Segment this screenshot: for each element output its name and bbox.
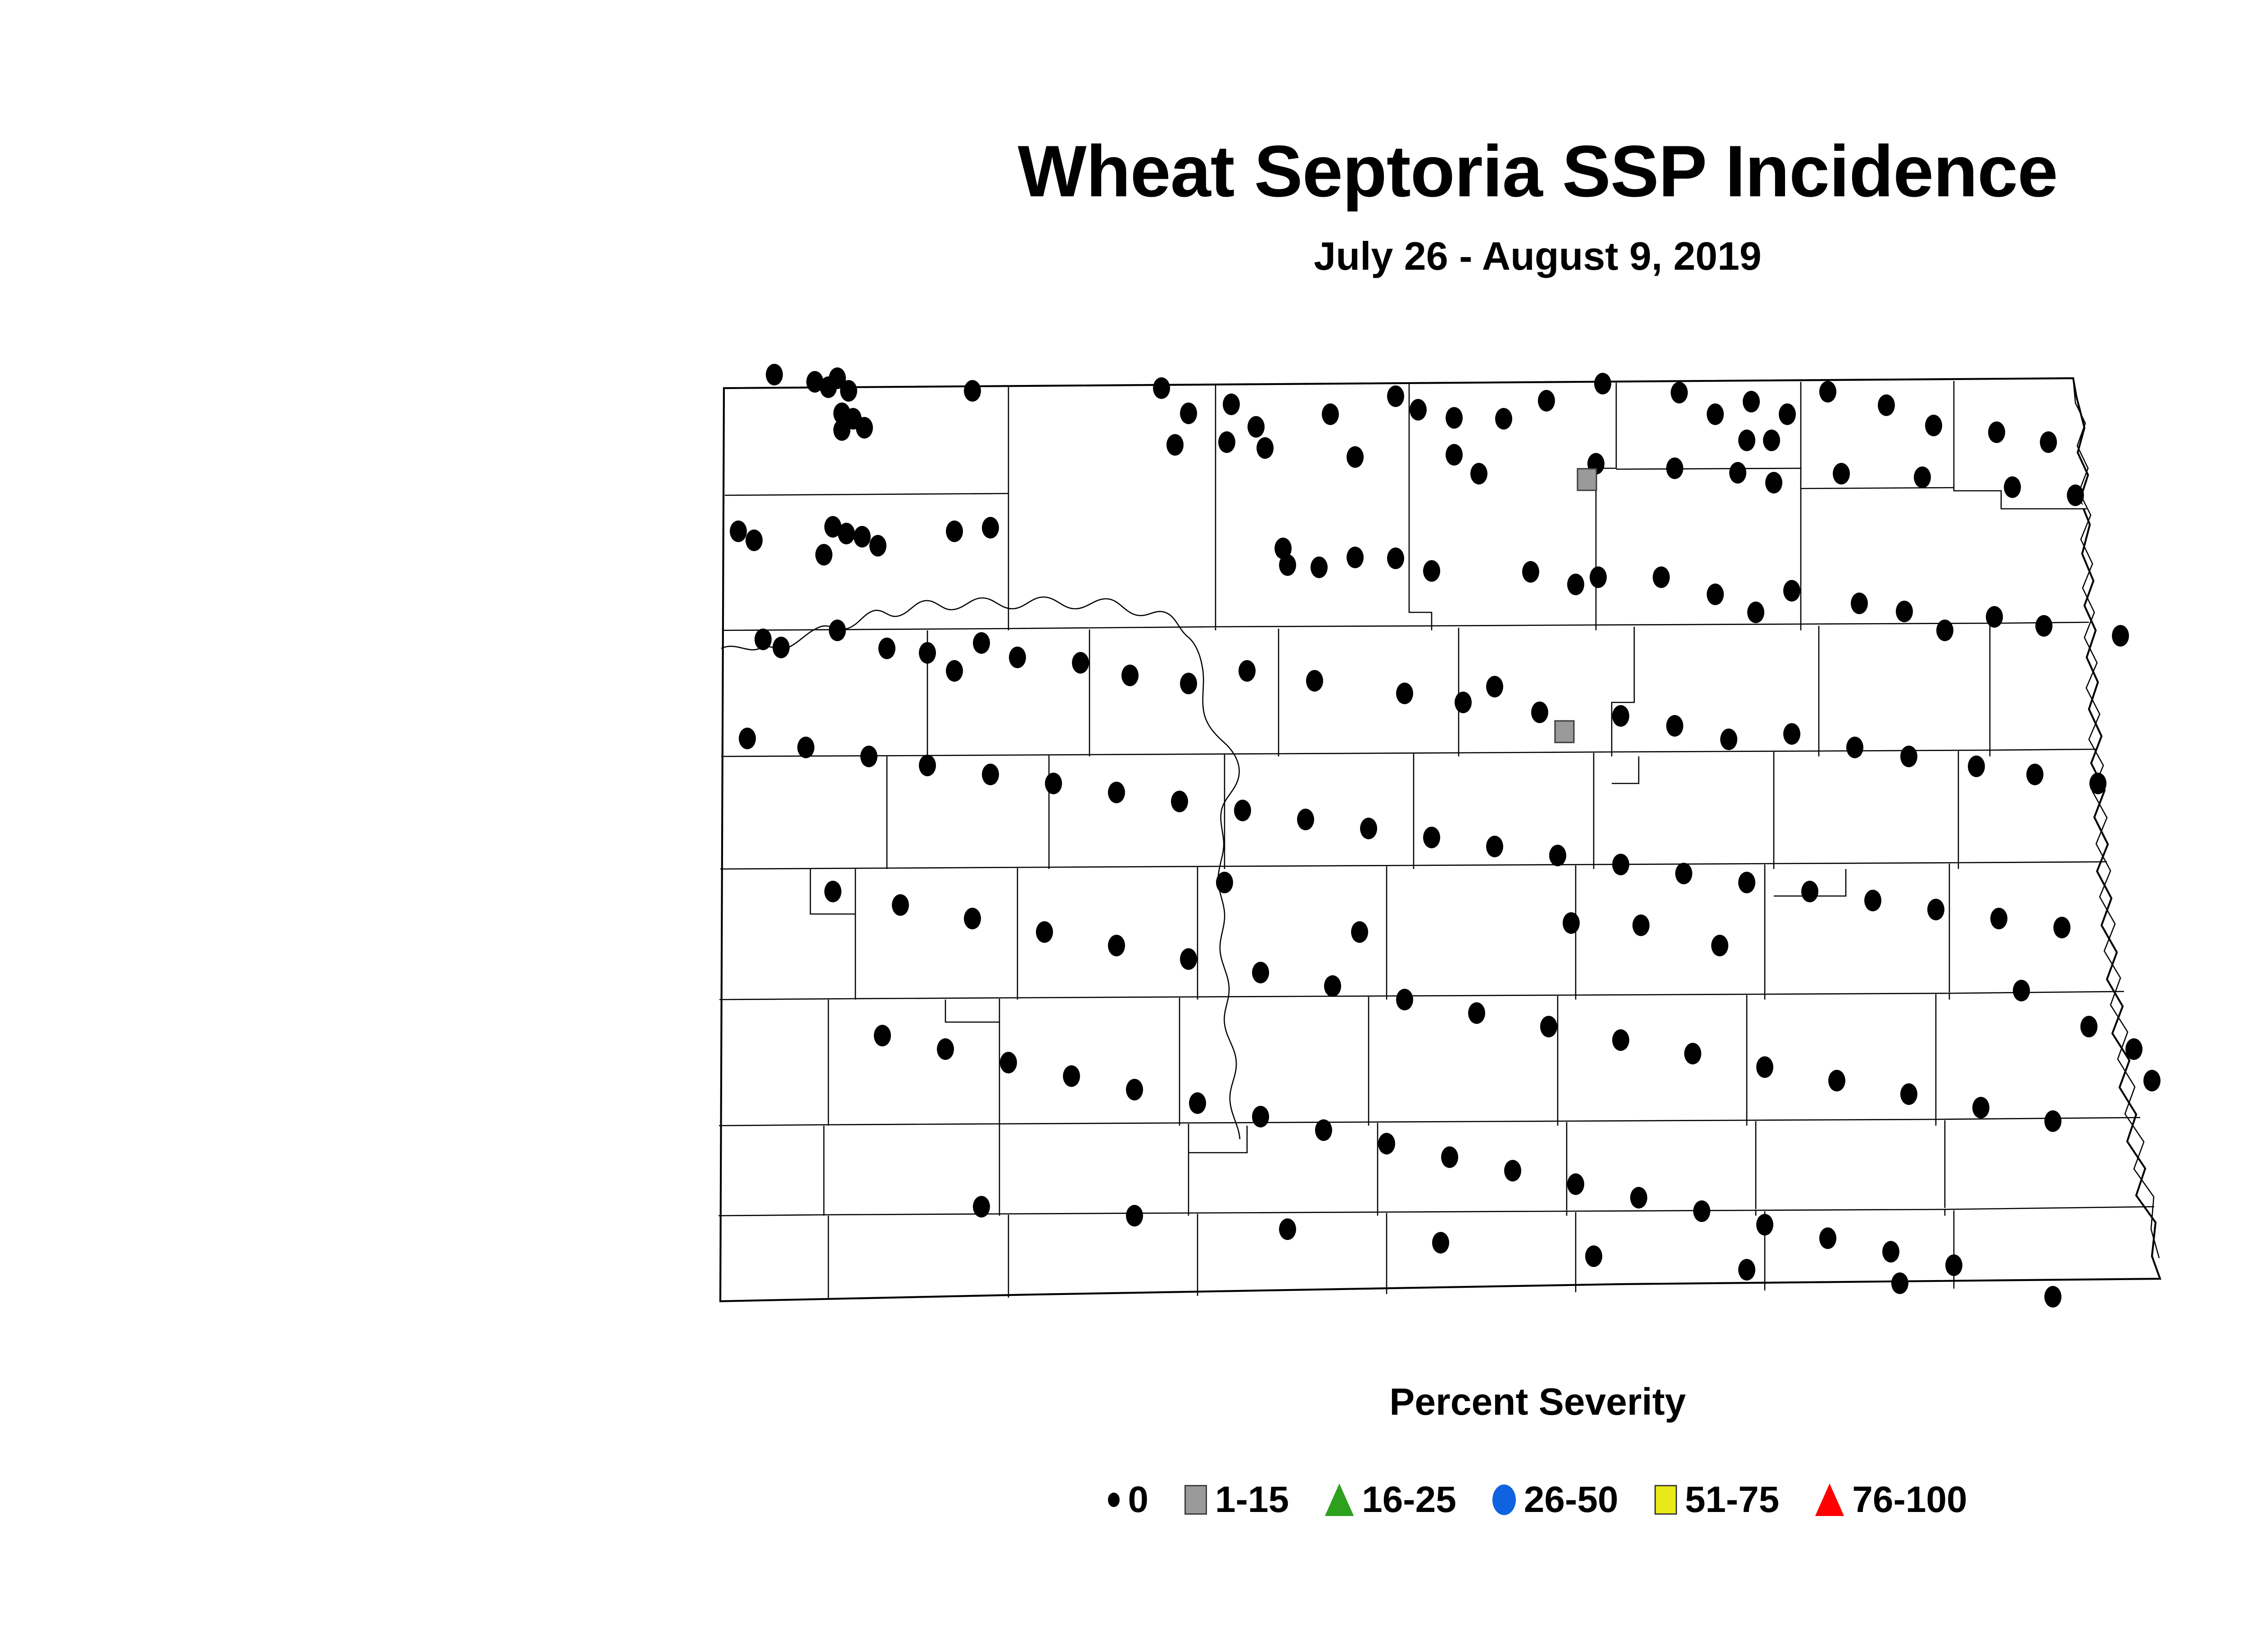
- data-point: [946, 520, 963, 542]
- data-point: [1653, 566, 1670, 588]
- data-point: [854, 526, 871, 548]
- data-point: [1322, 403, 1339, 425]
- data-point: [1189, 1092, 1206, 1114]
- data-point: [1216, 872, 1233, 893]
- data-point: [1846, 737, 1863, 758]
- data-point: [1072, 652, 1089, 674]
- legend-item-label: 76-100: [1852, 1481, 1967, 1518]
- data-point: [746, 530, 763, 551]
- data-point: [1720, 729, 1737, 750]
- data-point: [2035, 615, 2052, 637]
- data-point: [1387, 548, 1404, 569]
- data-point: [824, 881, 841, 902]
- legend-item-16-25[interactable]: 16-25: [1325, 1481, 1456, 1518]
- data-point: [1594, 373, 1611, 394]
- data-point: [1432, 1232, 1449, 1254]
- data-point: [1738, 430, 1755, 451]
- data-point: [1378, 1133, 1395, 1154]
- legend-item-1-15[interactable]: 1-15: [1184, 1481, 1289, 1518]
- data-point: [1180, 948, 1197, 970]
- legend-item-26-50[interactable]: 26-50: [1492, 1481, 1618, 1518]
- data-point: [1864, 890, 1881, 911]
- data-point: [1779, 403, 1796, 425]
- data-point: [1612, 1029, 1629, 1051]
- data-point: [1900, 1083, 1917, 1105]
- data-point: [2053, 917, 2070, 938]
- data-point: [1549, 845, 1566, 866]
- data-point: [1306, 670, 1323, 692]
- north-dakota-county-map: [693, 360, 2251, 1351]
- data-point: [1036, 921, 1053, 943]
- data-point: [815, 544, 832, 566]
- data-point: [1666, 715, 1683, 737]
- legend-item-label: 0: [1128, 1481, 1148, 1518]
- data-point: [1297, 809, 1314, 830]
- data-point: [2013, 980, 2030, 1001]
- data-point: [982, 764, 999, 785]
- data-point: [1234, 800, 1251, 821]
- data-point: [1351, 921, 1368, 943]
- data-point: [1684, 1043, 1701, 1064]
- data-point: [1833, 463, 1850, 484]
- data-point: [1972, 1097, 1989, 1118]
- data-point: [874, 1025, 891, 1046]
- data-point: [1763, 430, 1780, 451]
- data-point: [2004, 476, 2021, 498]
- data-point: [1828, 1070, 1845, 1091]
- data-point: [1153, 377, 1170, 399]
- legend-square-icon: [1654, 1485, 1677, 1515]
- data-point: [856, 417, 873, 439]
- data-point: [1180, 673, 1197, 694]
- red-river-east-border: [2073, 378, 2159, 1258]
- legend: 01-1516-2526-5051-7576-100: [0, 1481, 2251, 1518]
- data-point: [1891, 1272, 1908, 1294]
- data-point: [1252, 962, 1269, 983]
- data-point: [1585, 1245, 1602, 1267]
- data-point: [2112, 625, 2129, 647]
- data-point: [2040, 431, 2057, 453]
- data-point: [1540, 1016, 1557, 1037]
- data-point: [1671, 382, 1688, 403]
- data-point: [1239, 660, 1256, 682]
- page-subtitle: July 26 - August 9, 2019: [0, 208, 2251, 279]
- data-point: [946, 660, 963, 682]
- data-point: [1936, 620, 1953, 641]
- data-point: [1612, 854, 1629, 875]
- data-point: [1248, 416, 1265, 438]
- data-point: [829, 620, 846, 641]
- data-point: [1666, 457, 1683, 479]
- data-point: [755, 629, 772, 650]
- data-point: [1045, 773, 1062, 794]
- data-point: [2044, 1110, 2061, 1132]
- data-point: [1410, 399, 1427, 421]
- data-point: [1396, 683, 1413, 704]
- data-point: [1396, 989, 1413, 1010]
- data-point: [1441, 1146, 1458, 1168]
- data-point: [1711, 935, 1728, 956]
- page-title: Wheat Septoria SSP Incidence: [0, 135, 2251, 208]
- data-point: [964, 380, 981, 402]
- data-point: [2143, 1070, 2161, 1091]
- data-point: [1108, 935, 1125, 956]
- data-point: [878, 638, 895, 659]
- data-point: [1252, 1106, 1269, 1127]
- data-point: [869, 535, 886, 557]
- legend-item-label: 26-50: [1524, 1481, 1618, 1518]
- page-root: Wheat Septoria SSP Incidence July 26 - A…: [0, 0, 2251, 1652]
- data-point: [1387, 385, 1404, 407]
- data-point: [1968, 756, 1985, 777]
- data-point: [766, 364, 783, 385]
- data-markers-layer: [730, 364, 2161, 1308]
- data-point: [1927, 899, 1944, 920]
- data-point: [1009, 647, 1026, 668]
- data-point: [739, 728, 756, 749]
- data-point: [1223, 394, 1240, 415]
- data-point: [2026, 764, 2043, 785]
- data-point: [1126, 1079, 1143, 1100]
- data-point: [1986, 606, 2003, 628]
- data-point: [773, 637, 790, 658]
- data-point: [1783, 723, 1800, 745]
- data-point: [1486, 836, 1503, 857]
- data-point: [1166, 434, 1184, 456]
- data-point: [1801, 881, 1818, 902]
- title-block: Wheat Septoria SSP Incidence July 26 - A…: [0, 135, 2251, 279]
- data-point: [1738, 1259, 1755, 1281]
- data-point: [2067, 484, 2084, 506]
- data-point: [860, 746, 877, 767]
- data-point: [919, 642, 936, 664]
- data-point: [1578, 469, 1596, 490]
- data-point: [1108, 782, 1125, 803]
- data-point: [2044, 1286, 2061, 1308]
- data-point: [1882, 1241, 1899, 1263]
- data-point: [964, 908, 981, 929]
- legend-title: Percent Severity: [0, 1380, 2251, 1424]
- data-point: [1446, 444, 1463, 466]
- legend-triangle-icon: [1325, 1484, 1354, 1516]
- data-point: [1257, 437, 1274, 459]
- data-point: [1180, 403, 1197, 424]
- data-point: [1504, 1160, 1521, 1181]
- data-point: [982, 517, 999, 539]
- legend-item-51-75[interactable]: 51-75: [1654, 1481, 1780, 1518]
- data-point: [1531, 702, 1548, 723]
- data-point: [1747, 602, 1764, 623]
- data-point: [1555, 721, 1574, 742]
- data-point: [1171, 791, 1188, 812]
- data-point: [1347, 547, 1364, 568]
- state-outline: [720, 378, 2160, 1301]
- data-point: [1538, 390, 1555, 412]
- data-point: [973, 1196, 990, 1218]
- data-point: [892, 894, 909, 916]
- data-point: [1729, 462, 1746, 484]
- data-point: [1693, 1200, 1710, 1222]
- data-point: [1486, 676, 1503, 697]
- data-point: [838, 523, 855, 544]
- data-point: [1988, 421, 2005, 443]
- data-point: [1279, 1218, 1296, 1240]
- data-point: [973, 632, 990, 654]
- data-point: [1446, 407, 1463, 429]
- legend-item-label: 51-75: [1685, 1481, 1780, 1518]
- data-point: [1423, 827, 1440, 848]
- data-point: [1423, 560, 1440, 582]
- data-point: [1279, 554, 1296, 576]
- legend-circle-large-icon: [1492, 1485, 1516, 1515]
- map-container: [693, 360, 2251, 1351]
- data-point: [1945, 1254, 1962, 1276]
- data-point: [1495, 408, 1512, 430]
- data-point: [1563, 912, 1580, 934]
- data-point: [1121, 665, 1139, 686]
- data-point: [1218, 431, 1235, 453]
- data-point: [1756, 1056, 1773, 1078]
- data-point: [1632, 914, 1650, 936]
- data-point: [2089, 773, 2106, 794]
- data-point: [1311, 557, 1328, 578]
- data-point: [1315, 1119, 1332, 1141]
- data-point: [1675, 863, 1692, 884]
- data-point: [1878, 394, 1895, 416]
- legend-item-76-100[interactable]: 76-100: [1815, 1481, 1967, 1518]
- data-point: [1470, 463, 1487, 484]
- data-point: [1707, 403, 1724, 425]
- data-point: [1360, 818, 1377, 839]
- data-point: [1765, 472, 1782, 493]
- data-point: [1567, 574, 1584, 595]
- legend-triangle-icon: [1815, 1484, 1844, 1516]
- data-point: [1567, 1173, 1584, 1195]
- data-point: [937, 1038, 954, 1060]
- data-point: [797, 737, 814, 758]
- data-point: [1914, 466, 1931, 488]
- data-point: [1468, 1002, 1485, 1024]
- legend-item-label: 16-25: [1362, 1481, 1456, 1518]
- data-point: [1900, 746, 1917, 767]
- data-point: [2080, 1016, 2097, 1037]
- data-point: [1756, 1214, 1773, 1236]
- data-point: [919, 755, 936, 776]
- data-point: [1347, 446, 1364, 468]
- data-point: [1896, 601, 1913, 622]
- data-point: [1783, 580, 1800, 602]
- data-point: [1707, 584, 1724, 605]
- data-point: [1743, 391, 1760, 412]
- data-point: [2125, 1038, 2143, 1060]
- data-point: [1063, 1065, 1080, 1087]
- data-point: [1630, 1187, 1647, 1208]
- data-point: [1990, 908, 2007, 929]
- data-point: [1819, 381, 1836, 403]
- marker-series-1-15: [1555, 469, 1596, 742]
- data-point: [1522, 561, 1539, 583]
- legend-item-label: 1-15: [1215, 1481, 1289, 1518]
- legend-item-0[interactable]: 0: [1108, 1481, 1148, 1518]
- data-point: [1851, 593, 1868, 614]
- data-point: [1590, 566, 1607, 588]
- data-point: [833, 419, 850, 441]
- data-point: [1000, 1052, 1017, 1073]
- legend-circle-small-icon: [1108, 1493, 1120, 1507]
- data-point: [840, 380, 857, 402]
- water-features: [721, 378, 2159, 1258]
- data-point: [1612, 705, 1629, 727]
- data-point: [730, 520, 747, 542]
- data-point: [1126, 1205, 1143, 1227]
- data-point: [1455, 692, 1472, 713]
- data-point: [1324, 975, 1341, 997]
- legend-square-icon: [1184, 1485, 1207, 1515]
- data-point: [1819, 1227, 1836, 1249]
- data-point: [1738, 872, 1755, 893]
- data-point: [1925, 415, 1942, 436]
- marker-series-0: [730, 364, 2161, 1308]
